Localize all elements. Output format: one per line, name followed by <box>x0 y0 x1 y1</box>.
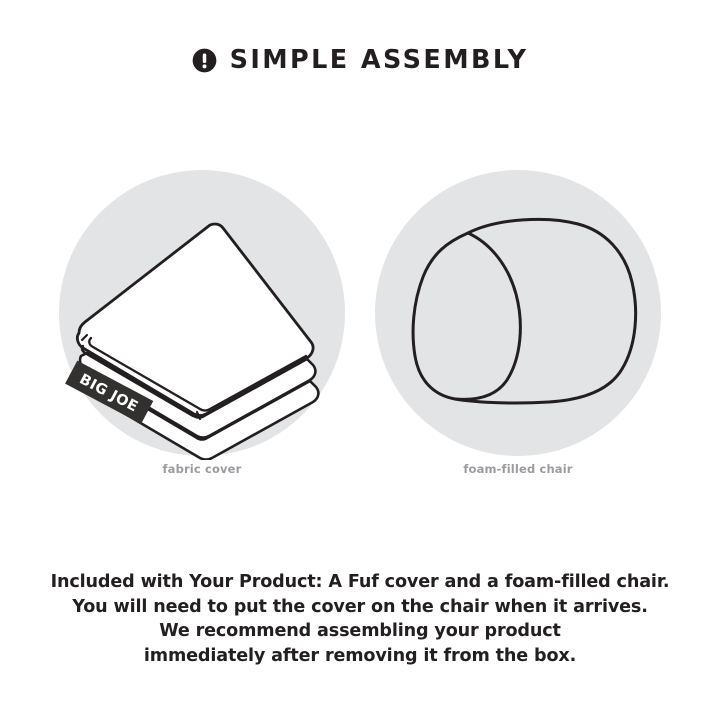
footer-line-2: You will need to put the cover on the ch… <box>0 595 720 620</box>
simple-assembly-infographic: SIMPLE ASSEMBLY <box>0 0 720 720</box>
caption-fabric-cover: fabric cover <box>57 463 347 477</box>
exclamation-circle-icon <box>192 48 217 73</box>
panel-fabric-cover: BIG JOE fabric cover <box>57 170 347 490</box>
page-title: SIMPLE ASSEMBLY <box>230 48 529 74</box>
header: SIMPLE ASSEMBLY <box>0 48 720 74</box>
footer-line-1: Included with Your Product: A Fuf cover … <box>0 570 720 595</box>
caption-foam-filled-chair: foam-filled chair <box>373 463 663 477</box>
panel-foam-filled-chair: foam-filled chair <box>373 170 663 490</box>
footer-line-3: We recommend assembling your product <box>0 619 720 644</box>
fabric-cover-illustration: BIG JOE <box>57 170 347 460</box>
foam-filled-chair-illustration <box>373 170 663 460</box>
beanbag-chair-drawing <box>413 219 636 403</box>
footer-line-4: immediately after removing it from the b… <box>0 644 720 669</box>
illustration-panels: BIG JOE fabric cover foam-filled chair <box>0 170 720 490</box>
footer-copy: Included with Your Product: A Fuf cover … <box>0 570 720 668</box>
